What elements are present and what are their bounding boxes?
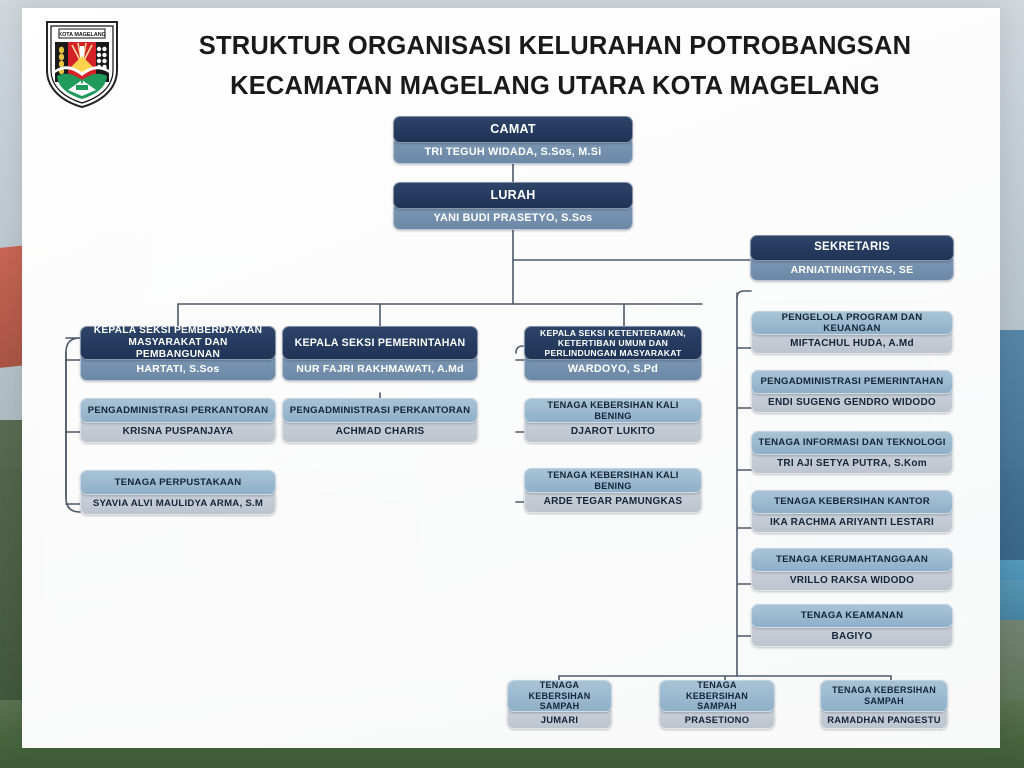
node-pemberdayaan-staff-2-position: TENAGA PERPUSTAKAAN bbox=[80, 470, 276, 495]
node-sekretariat-staff-5-position: TENAGA KERUMAHTANGGAAN bbox=[751, 548, 953, 572]
node-sampah-2[interactable]: TENAGA KEBERSIHAN SAMPAH PRASETIONO bbox=[659, 680, 775, 729]
node-sekretariat-staff-4[interactable]: TENAGA KEBERSIHAN KANTOR IKA RACHMA ARIY… bbox=[751, 490, 953, 533]
node-sekretariat-staff-5[interactable]: TENAGA KERUMAHTANGGAAN VRILLO RAKSA WIDO… bbox=[751, 548, 953, 591]
title-line-2: KECAMATAN MAGELANG UTARA KOTA MAGELANG bbox=[140, 66, 970, 106]
chart-overlay-panel: KOTA MAGELANG bbox=[22, 8, 1000, 748]
node-sekretariat-staff-2-position: PENGADMINISTRASI PEMERINTAHAN bbox=[751, 370, 953, 394]
node-sekretariat-staff-1[interactable]: PENGELOLA PROGRAM DAN KEUANGAN MIFTACHUL… bbox=[751, 311, 953, 354]
node-sampah-1-position: TENAGA KEBERSIHAN SAMPAH bbox=[507, 680, 612, 712]
node-camat[interactable]: CAMAT TRI TEGUH WIDADA, S.Sos, M.Si bbox=[393, 116, 633, 164]
node-lurah-position: LURAH bbox=[393, 182, 633, 209]
node-sekretaris-position: SEKRETARIS bbox=[750, 235, 954, 261]
node-sampah-1[interactable]: TENAGA KEBERSIHAN SAMPAH JUMARI bbox=[507, 680, 612, 729]
node-sekretariat-staff-3[interactable]: TENAGA INFORMASI DAN TEKNOLOGI TRI AJI S… bbox=[751, 431, 953, 474]
node-kasi-trantib-position: KEPALA SEKSI KETENTERAMAN, KETERTIBAN UM… bbox=[524, 326, 702, 360]
node-kasi-trantib[interactable]: KEPALA SEKSI KETENTERAMAN, KETERTIBAN UM… bbox=[524, 326, 702, 381]
node-sekretariat-staff-6-position: TENAGA KEAMANAN bbox=[751, 604, 953, 628]
node-kasi-pemberdayaan[interactable]: KEPALA SEKSI PEMBERDAYAAN MASYARAKAT DAN… bbox=[80, 326, 276, 381]
node-sekretariat-staff-1-position: PENGELOLA PROGRAM DAN KEUANGAN bbox=[751, 311, 953, 335]
node-kasi-pemerintahan[interactable]: KEPALA SEKSI PEMERINTAHAN NUR FAJRI RAKH… bbox=[282, 326, 478, 381]
svg-text:KOTA MAGELANG: KOTA MAGELANG bbox=[58, 32, 106, 38]
chart-header: KOTA MAGELANG bbox=[22, 8, 1000, 113]
node-pemberdayaan-staff-1[interactable]: PENGADMINISTRASI PERKANTORAN KRISNA PUSP… bbox=[80, 398, 276, 443]
node-pemerintahan-staff-1[interactable]: PENGADMINISTRASI PERKANTORAN ACHMAD CHAR… bbox=[282, 398, 478, 443]
node-lurah[interactable]: LURAH YANI BUDI PRASETYO, S.Sos bbox=[393, 182, 633, 230]
node-sampah-3-position: TENAGA KEBERSIHAN SAMPAH bbox=[820, 680, 948, 712]
node-sekretariat-staff-2[interactable]: PENGADMINISTRASI PEMERINTAHAN ENDI SUGEN… bbox=[751, 370, 953, 413]
node-pemerintahan-staff-1-position: PENGADMINISTRASI PERKANTORAN bbox=[282, 398, 478, 423]
node-sampah-3[interactable]: TENAGA KEBERSIHAN SAMPAH RAMADHAN PANGES… bbox=[820, 680, 948, 729]
node-sekretariat-staff-3-position: TENAGA INFORMASI DAN TEKNOLOGI bbox=[751, 431, 953, 455]
node-sekretaris[interactable]: SEKRETARIS ARNIATININGTIYAS, SE bbox=[750, 235, 954, 281]
page-title: STRUKTUR ORGANISASI KELURAHAN POTROBANGS… bbox=[140, 26, 970, 106]
org-chart-stage: KOTA MAGELANG bbox=[0, 0, 1024, 768]
node-kasi-pemerintahan-position: KEPALA SEKSI PEMERINTAHAN bbox=[282, 326, 478, 360]
node-camat-position: CAMAT bbox=[393, 116, 633, 143]
node-sampah-2-position: TENAGA KEBERSIHAN SAMPAH bbox=[659, 680, 775, 712]
node-trantib-staff-1-position: TENAGA KEBERSIHAN KALI BENING bbox=[524, 398, 702, 423]
node-pemberdayaan-staff-1-position: PENGADMINISTRASI PERKANTORAN bbox=[80, 398, 276, 423]
node-trantib-staff-2-position: TENAGA KEBERSIHAN KALI BENING bbox=[524, 468, 702, 493]
node-trantib-staff-1[interactable]: TENAGA KEBERSIHAN KALI BENING DJAROT LUK… bbox=[524, 398, 702, 443]
node-kasi-pemberdayaan-position: KEPALA SEKSI PEMBERDAYAAN MASYARAKAT DAN… bbox=[80, 326, 276, 360]
node-sekretariat-staff-6[interactable]: TENAGA KEAMANAN BAGIYO bbox=[751, 604, 953, 647]
node-pemberdayaan-staff-2[interactable]: TENAGA PERPUSTAKAAN SYAVIA ALVI MAULIDYA… bbox=[80, 470, 276, 515]
node-sekretariat-staff-4-position: TENAGA KEBERSIHAN KANTOR bbox=[751, 490, 953, 514]
kota-magelang-crest-icon: KOTA MAGELANG bbox=[42, 18, 122, 108]
node-trantib-staff-2[interactable]: TENAGA KEBERSIHAN KALI BENING ARDE TEGAR… bbox=[524, 468, 702, 513]
title-line-1: STRUKTUR ORGANISASI KELURAHAN POTROBANGS… bbox=[140, 26, 970, 66]
